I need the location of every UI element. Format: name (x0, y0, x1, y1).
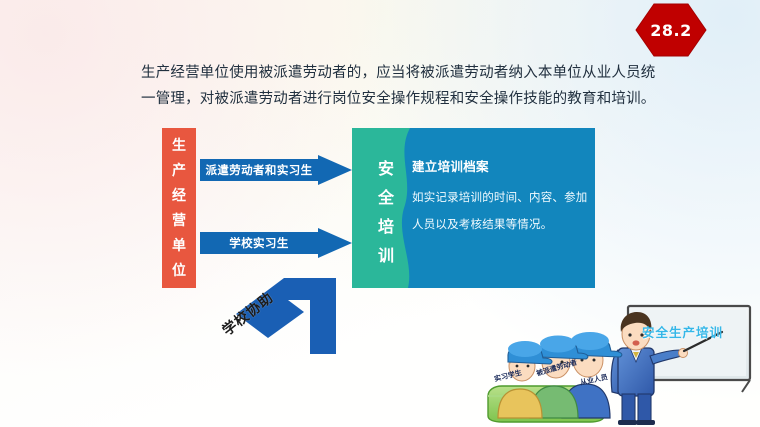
source-char-2: 经 (172, 184, 186, 209)
source-char-0: 生 (172, 134, 186, 159)
training-box-title: 安 全 培 训 (362, 154, 410, 270)
training-panel-body: 如实记录培训的时间、内容、参加 人员以及考核结果等情况。 (412, 184, 587, 238)
slide-canvas: 28.2 生产经营单位使用被派遣劳动者的，应当将被派遣劳动者纳入本单位从业人员统… (0, 0, 760, 427)
source-char-5: 位 (172, 259, 186, 284)
whiteboard-text: 安全生产培训 (642, 322, 754, 341)
source-char-1: 产 (172, 159, 186, 184)
training-title-char-1: 全 (362, 183, 410, 212)
flow-arrow-dispatched-workers: 派遣劳动者和实习生 (200, 155, 352, 185)
training-box: 安 全 培 训 建立培训档案 如实记录培训的时间、内容、参加 人员以及考核结果等… (352, 128, 595, 288)
source-char-4: 单 (172, 234, 186, 259)
flow-arrow-label-2: 学校实习生 (200, 228, 318, 258)
flow-arrow-label-1: 派遣劳动者和实习生 (200, 155, 318, 185)
source-char-3: 营 (172, 209, 186, 234)
training-title-char-3: 训 (362, 241, 410, 270)
training-panel-heading: 建立培训档案 (412, 156, 587, 175)
source-entity-bar: 生 产 经 营 单 位 (162, 128, 196, 288)
training-body-line-1: 如实记录培训的时间、内容、参加 (412, 184, 587, 211)
training-title-char-2: 培 (362, 212, 410, 241)
training-illustration: 安全生产培训 实习学生 被派遣劳动者 从业人员 (470, 300, 760, 427)
training-body-line-2: 人员以及考核结果等情况。 (412, 211, 587, 238)
flow-arrow-school-interns: 学校实习生 (200, 228, 352, 258)
illustration-artwork (470, 300, 760, 427)
training-title-char-0: 安 (362, 154, 410, 183)
